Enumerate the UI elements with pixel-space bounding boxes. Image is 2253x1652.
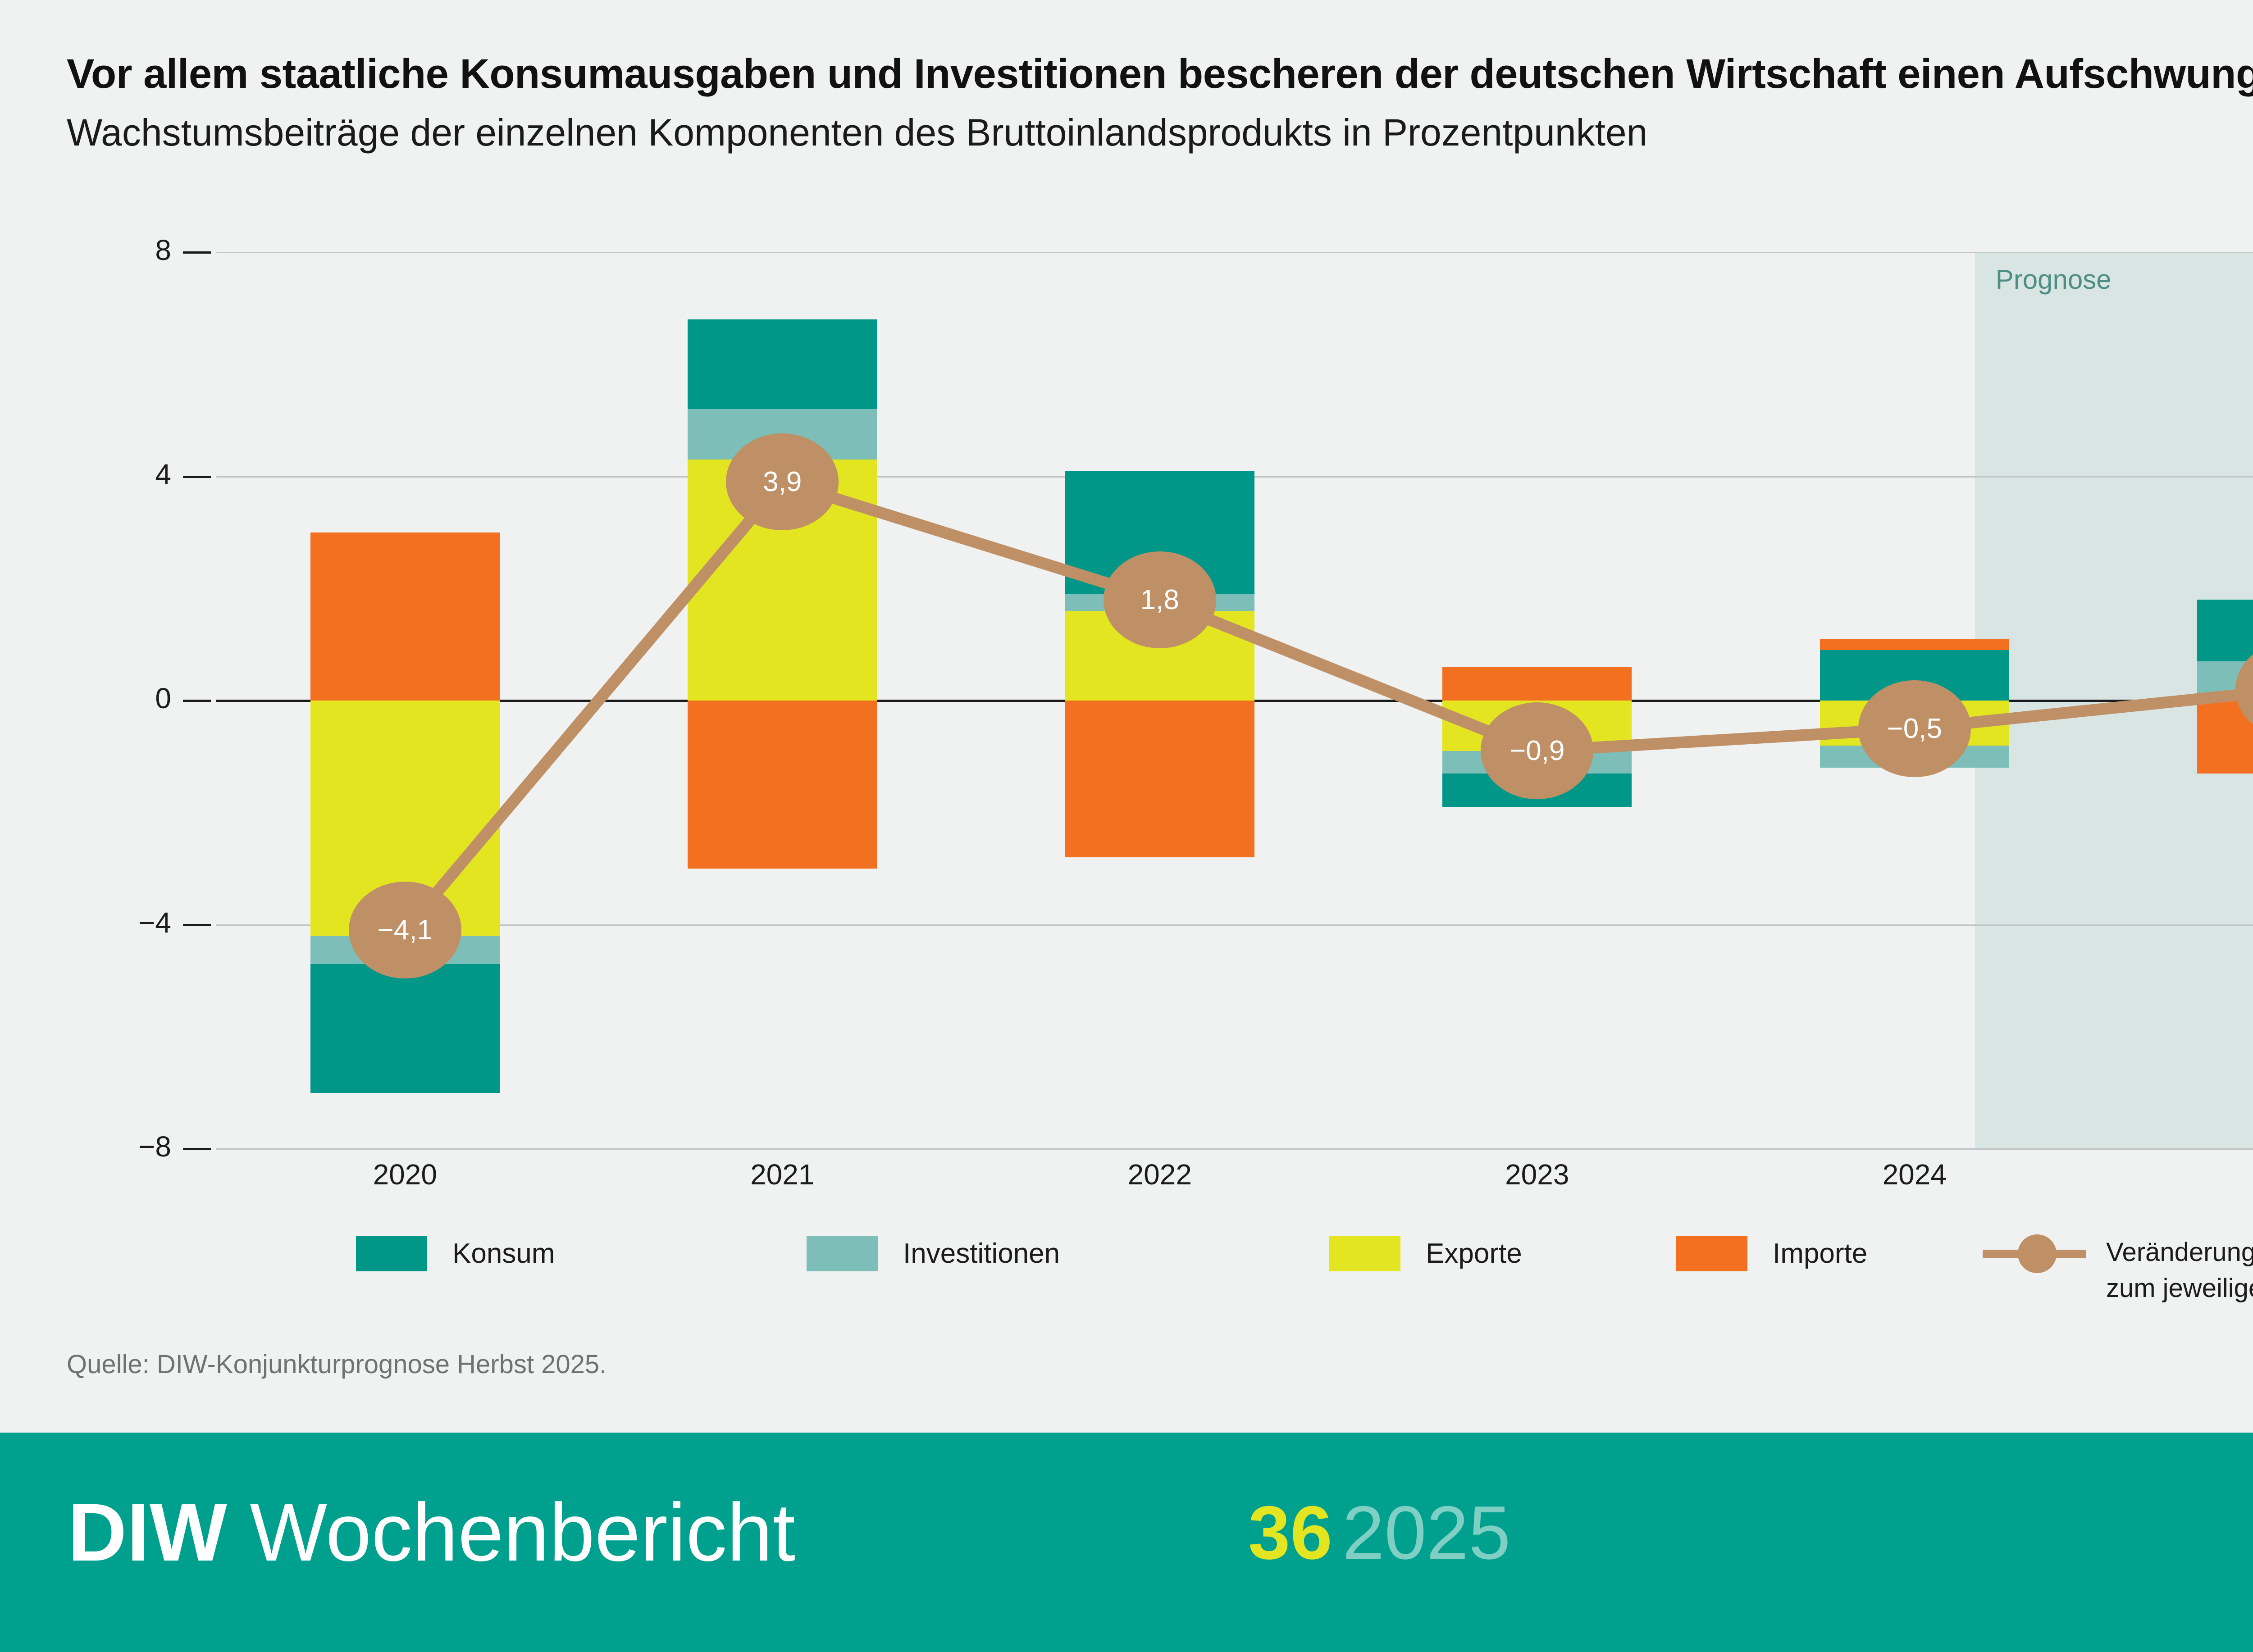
bar-segment-importe xyxy=(1820,639,2009,650)
y-axis-label: 4 xyxy=(59,458,171,491)
x-axis-label: 2025 xyxy=(2103,1158,2253,1191)
line-data-point-marker[interactable]: −0,9 xyxy=(1481,702,1593,799)
legend-label: Exporte xyxy=(1426,1234,1522,1273)
bar-column[interactable] xyxy=(1442,252,1632,1149)
chart-page: Vor allem staatliche Konsumausgaben und … xyxy=(0,0,2253,1652)
line-data-point-marker[interactable]: 3,9 xyxy=(726,433,839,530)
x-axis-label: 2023 xyxy=(1349,1158,1726,1191)
y-tick-mark xyxy=(183,1148,211,1150)
x-axis-label: 2020 xyxy=(216,1158,594,1191)
legend-swatch-icon xyxy=(807,1236,878,1271)
issue-info: 362025 xyxy=(1248,1489,1511,1576)
forecast-label: Prognose xyxy=(1996,264,2112,295)
bar-segment-importe xyxy=(1065,701,1254,857)
legend-swatch-icon xyxy=(1329,1236,1400,1271)
legend-swatch-icon xyxy=(1676,1236,1747,1271)
legend-line-label: Veränderung des Bruttoinlandsprodukts im… xyxy=(2106,1234,2253,1306)
y-axis-label: 0 xyxy=(59,682,171,715)
legend-line-label-row1: Veränderung des Bruttoinlandsprodukts im… xyxy=(2106,1234,2253,1270)
page-title: Vor allem staatliche Konsumausgaben und … xyxy=(67,50,2253,98)
chart-legend: KonsumInvestitionenExporteImporteVerände… xyxy=(0,1234,2253,1333)
legend-item-investitionen[interactable]: Investitionen xyxy=(807,1234,1060,1273)
banner-title-bold: DIW xyxy=(68,1486,227,1578)
y-axis-label: −4 xyxy=(59,906,171,939)
banner-title: DIW Wochenbericht xyxy=(68,1485,795,1579)
legend-line-label-row2: zum jeweiligen Vorjahr in Prozent xyxy=(2106,1270,2253,1306)
chart-plot-area: Prognose840−4−8−4,13,91,8−0,9−0,50,21,71… xyxy=(216,252,2253,1149)
bar-column[interactable] xyxy=(688,252,877,1149)
y-tick-mark xyxy=(183,700,211,702)
bar-segment-konsum xyxy=(2197,600,2253,661)
y-tick-mark xyxy=(183,251,211,254)
legend-label: Investitionen xyxy=(903,1234,1060,1273)
line-data-point-marker[interactable]: −4,1 xyxy=(349,882,461,978)
bar-segment-konsum xyxy=(310,964,500,1093)
x-axis: 20202021202220232024202520262027 xyxy=(216,1158,2253,1207)
legend-line-marker-icon xyxy=(1983,1234,2086,1273)
x-axis-label: 2021 xyxy=(594,1158,971,1191)
issue-number: 36 xyxy=(1248,1490,1332,1575)
bar-segment-importe xyxy=(310,532,500,701)
legend-item-exporte[interactable]: Exporte xyxy=(1329,1234,1522,1273)
x-axis-label: 2024 xyxy=(1726,1158,2103,1191)
legend-label: Importe xyxy=(1773,1234,1867,1273)
legend-item-konsum[interactable]: Konsum xyxy=(356,1234,555,1273)
line-data-point-marker[interactable]: 1,8 xyxy=(1104,551,1216,648)
bar-segment-importe xyxy=(1442,667,1632,701)
bar-column[interactable] xyxy=(310,252,500,1149)
page-subtitle: Wachstumsbeiträge der einzelnen Komponen… xyxy=(67,111,1647,155)
banner-title-rest: Wochenbericht xyxy=(227,1486,795,1578)
bar-segment-konsum xyxy=(688,319,877,409)
x-axis-label: 2022 xyxy=(971,1158,1349,1191)
y-tick-mark xyxy=(183,924,211,926)
source-note: Quelle: DIW-Konjunkturprognose Herbst 20… xyxy=(67,1349,607,1379)
footer-banner: DIW Wochenbericht 362025 DIW BERLIN xyxy=(0,1433,2253,1652)
y-tick-mark xyxy=(183,476,211,478)
bar-segment-importe xyxy=(688,701,877,869)
issue-year: 2025 xyxy=(1342,1490,1511,1575)
legend-label: Konsum xyxy=(452,1234,555,1273)
legend-swatch-icon xyxy=(356,1236,427,1271)
bar-column[interactable] xyxy=(1065,252,1254,1149)
legend-item-importe[interactable]: Importe xyxy=(1676,1234,1867,1273)
line-data-point-marker[interactable]: −0,5 xyxy=(1858,680,1971,777)
legend-item-gdp-line[interactable]: Veränderung des Bruttoinlandsprodukts im… xyxy=(1983,1234,2253,1306)
y-axis-label: 8 xyxy=(59,233,171,267)
y-axis-label: −8 xyxy=(59,1130,171,1163)
